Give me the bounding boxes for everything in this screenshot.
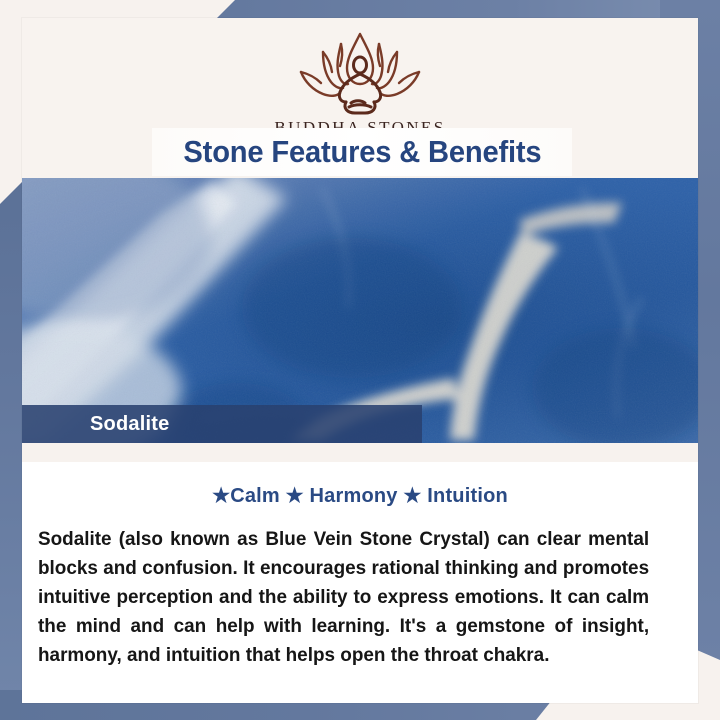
poster-root: BUDDHA STONES Stone Features & Benefits <box>0 0 720 720</box>
title-banner: Stone Features & Benefits <box>152 128 572 176</box>
content-card: BUDDHA STONES Stone Features & Benefits <box>22 18 698 703</box>
stone-description: Sodalite (also known as Blue Vein Stone … <box>38 525 649 670</box>
stone-name: Sodalite <box>90 413 169 436</box>
stone-caption-bar: Sodalite <box>22 405 422 443</box>
lotus-meditating-figure-icon <box>285 28 435 116</box>
page-title: Stone Features & Benefits <box>183 134 541 170</box>
stone-keywords: ★Calm ★ Harmony ★ Intuition <box>22 483 698 508</box>
sodalite-stone-texture: Sodalite <box>22 178 698 443</box>
content-section: ★Calm ★ Harmony ★ Intuition Sodalite (al… <box>22 443 698 703</box>
content-divider-strip <box>22 443 698 462</box>
